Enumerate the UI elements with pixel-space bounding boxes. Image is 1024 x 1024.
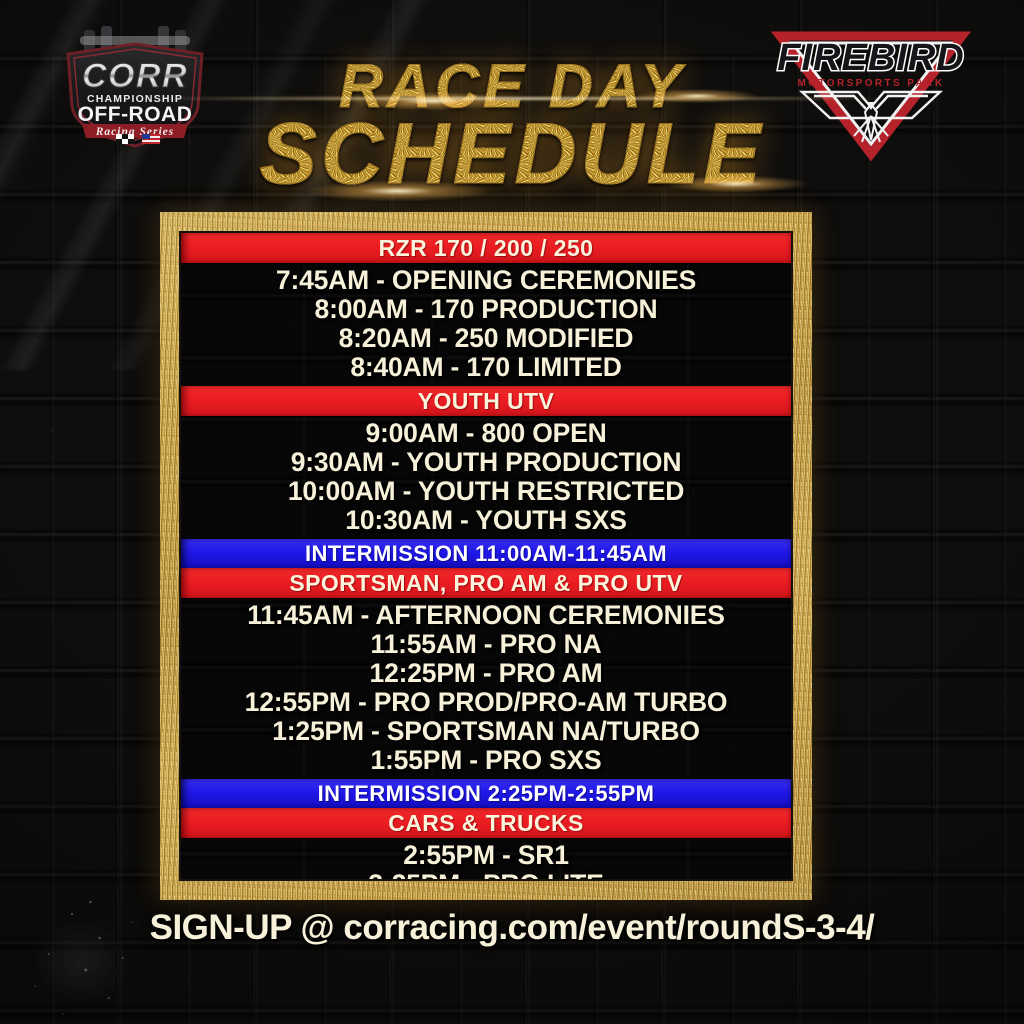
title-line-schedule: SCHEDULE — [0, 111, 1024, 197]
gold-frame: RZR 170 / 200 / 2507:45AM - OPENING CERE… — [160, 212, 812, 900]
section-rows: 7:45AM - OPENING CEREMONIES8:00AM - 170 … — [181, 263, 791, 386]
schedule-row: 11:55AM - PRO NA — [181, 630, 791, 659]
schedule-row: 2:55PM - SR1 — [181, 841, 791, 870]
section-rows: 9:00AM - 800 OPEN9:30AM - YOUTH PRODUCTI… — [181, 416, 791, 539]
section-header-bar: INTERMISSION 11:00AM-11:45AM — [181, 539, 791, 568]
schedule-row: 9:30AM - YOUTH PRODUCTION — [181, 448, 791, 477]
schedule-row: 1:25PM - SPORTSMAN NA/TURBO — [181, 717, 791, 746]
schedule-row: 10:00AM - YOUTH RESTRICTED — [181, 477, 791, 506]
schedule-row: 8:20AM - 250 MODIFIED — [181, 324, 791, 353]
schedule-row: 12:55PM - PRO PROD/PRO-AM TURBO — [181, 688, 791, 717]
section-header-bar: YOUTH UTV — [181, 386, 791, 416]
section-header-bar: SPORTSMAN, PRO AM & PRO UTV — [181, 568, 791, 598]
schedule-panel: RZR 170 / 200 / 2507:45AM - OPENING CERE… — [179, 231, 793, 881]
schedule-row: 8:00AM - 170 PRODUCTION — [181, 295, 791, 324]
schedule-row: 7:45AM - OPENING CEREMONIES — [181, 266, 791, 295]
page-title: RACE DAY SCHEDULE — [0, 56, 1024, 214]
schedule-list: RZR 170 / 200 / 2507:45AM - OPENING CERE… — [181, 233, 791, 881]
schedule-row: 1:55PM - PRO SXS — [181, 746, 791, 775]
schedule-row: 12:25PM - PRO AM — [181, 659, 791, 688]
schedule-row: 3:25PM - PRO LITE — [181, 870, 791, 881]
signup-url[interactable]: SIGN-UP @ corracing.com/event/roundS-3-4… — [0, 908, 1024, 948]
schedule-row: 11:45AM - AFTERNOON CEREMONIES — [181, 601, 791, 630]
section-rows: 11:45AM - AFTERNOON CEREMONIES11:55AM - … — [181, 598, 791, 779]
section-rows: 2:55PM - SR13:25PM - PRO LITE3:55PM - SP… — [181, 838, 791, 881]
flare-streak — [150, 97, 890, 100]
section-header-bar: INTERMISSION 2:25PM-2:55PM — [181, 779, 791, 808]
schedule-row: 10:30AM - YOUTH SXS — [181, 506, 791, 535]
schedule-row: 8:40AM - 170 LIMITED — [181, 353, 791, 382]
schedule-row: 9:00AM - 800 OPEN — [181, 419, 791, 448]
section-header-bar: RZR 170 / 200 / 250 — [181, 233, 791, 263]
section-header-bar: CARS & TRUCKS — [181, 808, 791, 838]
